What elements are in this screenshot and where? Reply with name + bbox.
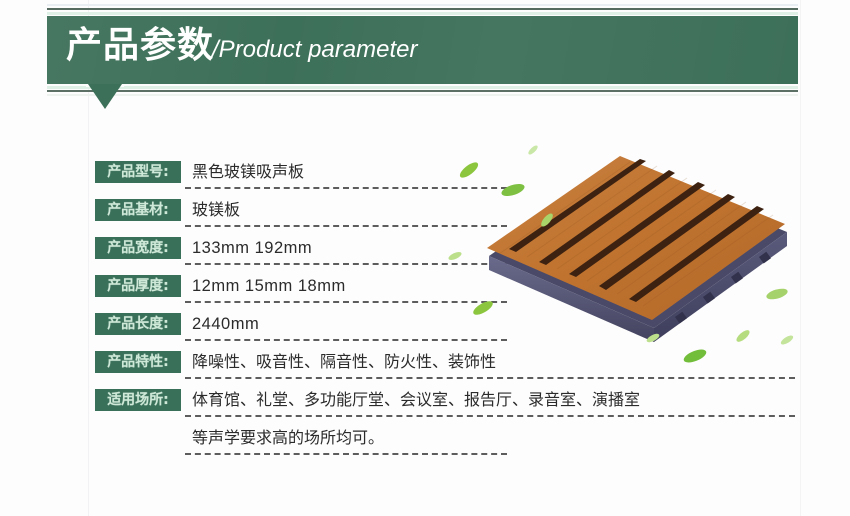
spec-value-continuation: 等声学要求高的场所均可。 — [185, 423, 384, 453]
banner-rule-bottom-light — [47, 86, 798, 89]
spec-label: 适用场所: — [95, 389, 181, 411]
product-photo — [447, 128, 797, 368]
banner-title: 产品参数/Product parameter — [66, 19, 417, 73]
banner-title-cn: 产品参数 — [66, 25, 214, 66]
spec-label: 产品型号: — [95, 161, 181, 183]
section-header-banner: 产品参数/Product parameter — [0, 0, 850, 110]
spec-value: 体育馆、礼堂、多功能厅堂、会议室、报告厅、录音室、演播室 — [185, 385, 640, 415]
spec-value: 2440mm — [185, 309, 259, 339]
spec-value: 玻镁板 — [185, 195, 240, 225]
product-parameter-page: 产品参数/Product parameter 产品型号: 黑色玻镁吸声板 产品基… — [0, 0, 850, 516]
banner-rule-top-light — [47, 12, 798, 15]
banner-title-en: /Product parameter — [212, 36, 417, 63]
banner-rule-top-outer — [47, 4, 798, 6]
spec-underline — [185, 377, 795, 379]
spec-label: 产品特性: — [95, 351, 181, 373]
spec-value: 133mm 192mm — [185, 233, 312, 263]
banner-bar: 产品参数/Product parameter — [47, 16, 798, 84]
spec-value: 12mm 15mm 18mm — [185, 271, 346, 301]
spec-label: 产品基材: — [95, 199, 181, 221]
spec-label: 产品长度: — [95, 313, 181, 335]
banner-arrow-pointer — [88, 84, 122, 109]
banner-rule-bottom-outer — [47, 94, 798, 96]
spec-underline — [185, 453, 507, 455]
spec-value: 黑色玻镁吸声板 — [185, 157, 304, 187]
banner-rule-top-dark — [47, 8, 798, 10]
spec-underline — [185, 415, 795, 417]
acoustic-panel-illustration — [447, 128, 797, 368]
banner-rule-bottom-dark — [47, 90, 798, 92]
spec-label: 产品厚度: — [95, 275, 181, 297]
spec-label: 产品宽度: — [95, 237, 181, 259]
